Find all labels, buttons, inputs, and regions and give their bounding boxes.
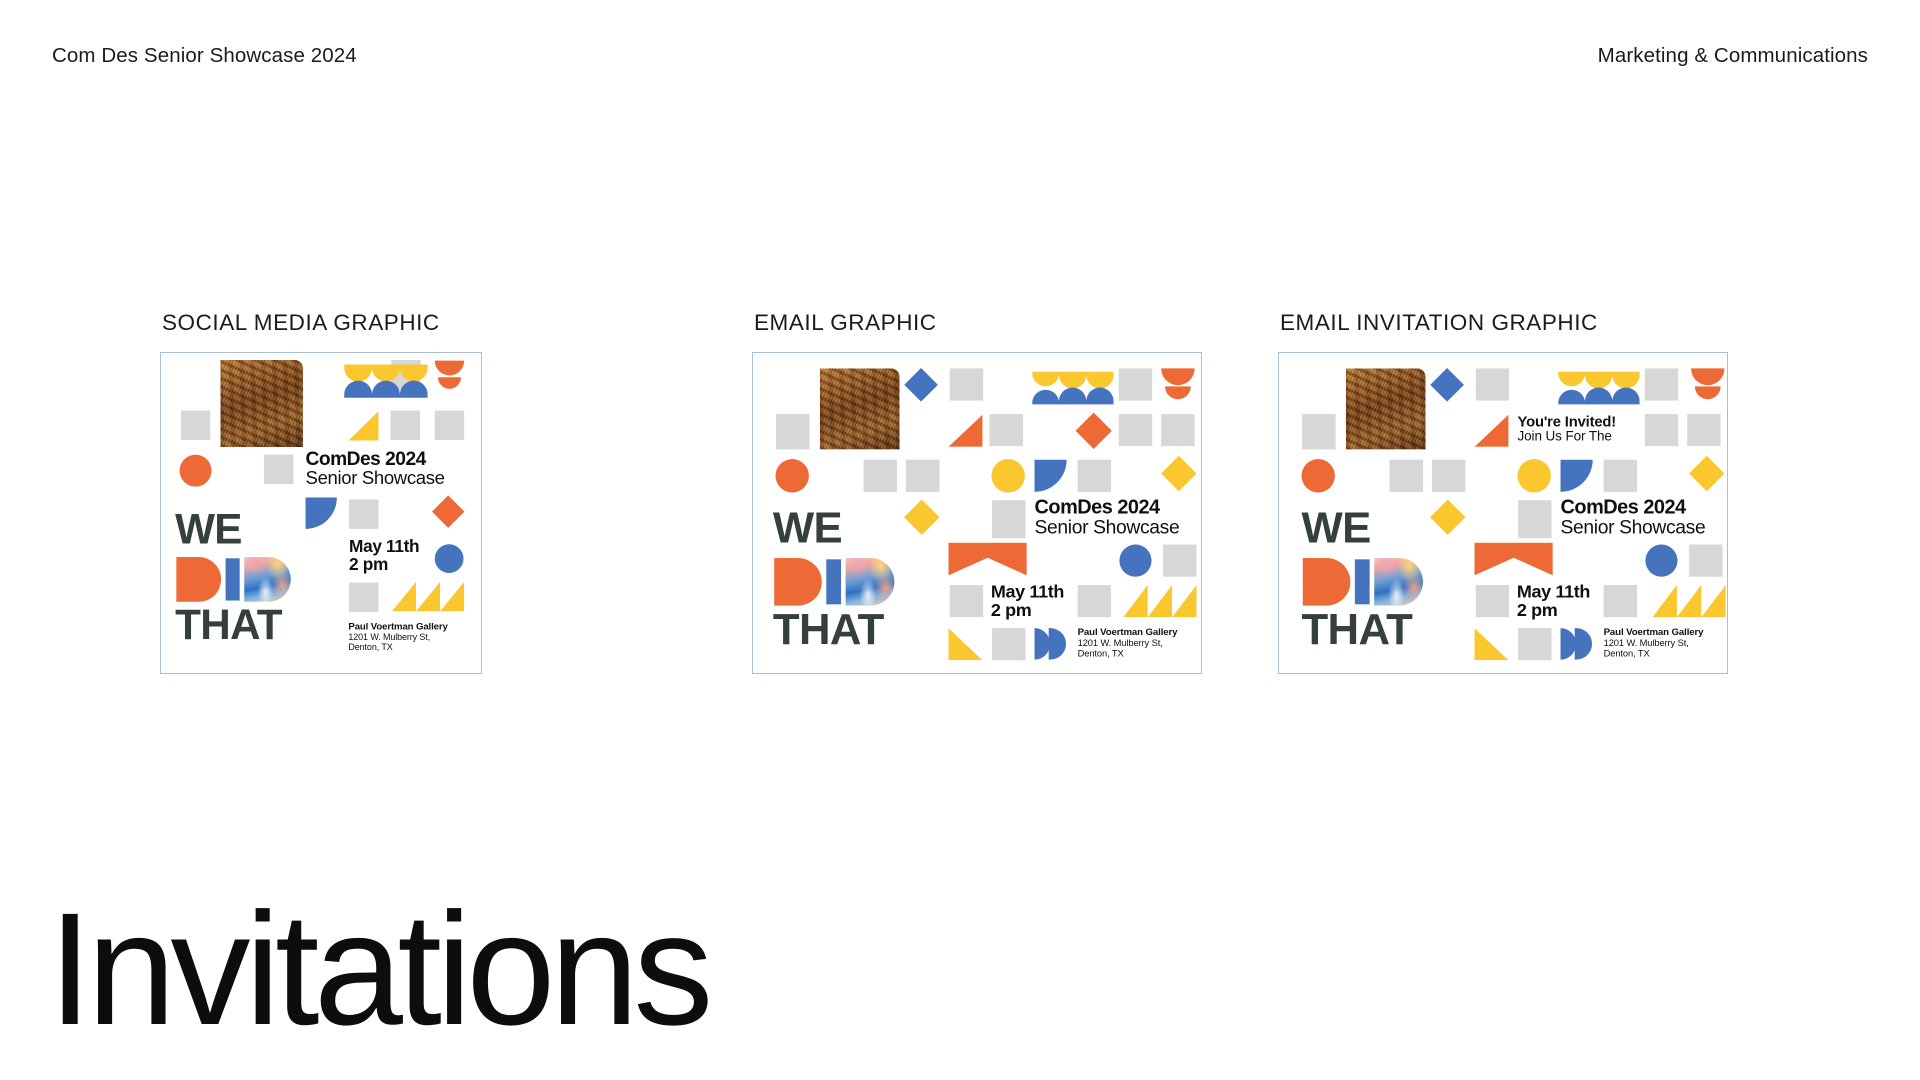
grid-square bbox=[1390, 460, 1423, 492]
event-date-line1: May 11th bbox=[349, 537, 419, 555]
blue-double-half-right bbox=[1575, 628, 1592, 659]
grid-square bbox=[864, 460, 897, 492]
letterpress-photo bbox=[820, 368, 900, 449]
page-header: Com Des Senior Showcase 2024 Marketing &… bbox=[52, 44, 1868, 68]
venue-name: Paul Voertman Gallery bbox=[348, 621, 447, 632]
title-block: ComDes 2024 Senior Showcase bbox=[1035, 497, 1180, 537]
event-title-bold: ComDes 2024 bbox=[306, 449, 445, 468]
orange-half-circle-bottom bbox=[1695, 386, 1721, 399]
grid-square bbox=[1518, 500, 1551, 538]
grid-square bbox=[349, 499, 378, 528]
card-label-email: EMAIL GRAPHIC bbox=[754, 310, 1202, 336]
orange-half-circle-top bbox=[435, 361, 464, 376]
venue-block: Paul Voertman Gallery 1201 W. Mulberry S… bbox=[348, 621, 447, 652]
grid-square bbox=[950, 585, 983, 617]
headline-d-orange bbox=[774, 558, 822, 606]
title-block: ComDes 2024 Senior Showcase bbox=[306, 449, 445, 488]
orange-diamond bbox=[432, 495, 465, 528]
headline-lockup: WE DID THAT bbox=[772, 510, 939, 661]
blue-circle bbox=[1119, 545, 1151, 577]
grid-square bbox=[264, 455, 293, 484]
event-date-line2: 2 pm bbox=[1517, 601, 1590, 620]
grid-square bbox=[1432, 460, 1465, 492]
orange-diamond bbox=[1076, 413, 1112, 449]
blue-quarter-circle bbox=[1561, 460, 1593, 492]
artwork-canvas-email: WE DID THAT ComDes 2024 Senior Showcase … bbox=[753, 353, 1202, 674]
grid-square bbox=[435, 411, 464, 440]
orange-circle bbox=[775, 459, 808, 492]
venue-city: Denton, TX bbox=[1604, 648, 1704, 659]
event-title-bold: ComDes 2024 bbox=[1035, 497, 1180, 517]
yellow-zigzag bbox=[1123, 585, 1196, 617]
date-block: May 11th 2 pm bbox=[1517, 582, 1590, 619]
yellow-circle bbox=[1517, 459, 1550, 492]
grid-square bbox=[1476, 585, 1509, 617]
event-date-line1: May 11th bbox=[1517, 582, 1590, 601]
headline-d-orange bbox=[176, 557, 221, 602]
yellow-zigzag bbox=[1652, 585, 1725, 617]
grid-square bbox=[1645, 414, 1678, 446]
grid-square bbox=[776, 414, 809, 449]
venue-block: Paul Voertman Gallery 1201 W. Mulberry S… bbox=[1604, 627, 1704, 659]
venue-name: Paul Voertman Gallery bbox=[1078, 627, 1178, 638]
venue-street: 1201 W. Mulberry St, bbox=[1604, 638, 1704, 649]
yellow-triangle-bottom bbox=[948, 628, 982, 660]
graphic-card-social-media[interactable]: WE DID THAT ComDes 2024 Senior Showcase … bbox=[160, 352, 482, 674]
grid-square bbox=[906, 460, 939, 492]
event-date-line2: 2 pm bbox=[349, 555, 419, 573]
orange-triangle bbox=[1474, 415, 1508, 447]
orange-half-circle-top bbox=[1161, 368, 1194, 385]
orange-m-shape bbox=[1474, 543, 1552, 576]
grid-square bbox=[391, 411, 420, 440]
blue-quarter-circle bbox=[1035, 460, 1067, 492]
headline-d-paint bbox=[244, 557, 291, 602]
yellow-circle bbox=[991, 459, 1024, 492]
grid-square bbox=[990, 414, 1023, 446]
venue-street: 1201 W. Mulberry St, bbox=[348, 632, 447, 642]
headline-d-orange bbox=[1303, 558, 1351, 606]
date-block: May 11th 2 pm bbox=[349, 537, 419, 573]
invite-eyebrow-block: You're Invited! Join Us For The bbox=[1517, 414, 1616, 443]
graphic-card-email[interactable]: WE DID THAT ComDes 2024 Senior Showcase … bbox=[752, 352, 1202, 674]
headline-d-paint bbox=[846, 558, 895, 606]
grid-square bbox=[349, 583, 378, 612]
yellow-triangle bbox=[348, 411, 378, 440]
artwork-canvas-social-media: WE DID THAT ComDes 2024 Senior Showcase … bbox=[161, 353, 481, 673]
orange-triangle bbox=[948, 415, 982, 447]
header-project-title: Com Des Senior Showcase 2024 bbox=[52, 44, 357, 68]
grid-square bbox=[181, 411, 210, 440]
headline-d-paint bbox=[1374, 558, 1423, 606]
yellow-triangle-bottom bbox=[1474, 628, 1508, 660]
headline-lockup: WE DID THAT bbox=[1301, 510, 1468, 661]
headline-line-we: WE bbox=[175, 512, 242, 547]
grid-square bbox=[1518, 628, 1551, 660]
grid-square bbox=[992, 628, 1025, 660]
grid-square bbox=[1163, 545, 1196, 577]
headline-line-that: THAT bbox=[773, 611, 884, 647]
card-label-email-invitation: EMAIL INVITATION GRAPHIC bbox=[1280, 310, 1728, 336]
yellow-diamond-right bbox=[1689, 456, 1724, 491]
blue-scallop-wave bbox=[1558, 386, 1640, 405]
orange-circle bbox=[1301, 459, 1334, 492]
grid-square bbox=[950, 368, 983, 400]
title-block: ComDes 2024 Senior Showcase bbox=[1561, 497, 1706, 537]
orange-half-circle-bottom bbox=[438, 377, 461, 389]
grid-square bbox=[1604, 460, 1637, 492]
grid-square bbox=[1161, 414, 1194, 446]
letterpress-photo bbox=[220, 360, 303, 447]
event-title-bold: ComDes 2024 bbox=[1561, 497, 1706, 517]
yellow-diamond-right bbox=[1161, 456, 1196, 491]
date-block: May 11th 2 pm bbox=[991, 582, 1064, 619]
blue-circle bbox=[1645, 545, 1677, 577]
graphic-card-email-invitation[interactable]: WE DID THAT You're Invited! Join Us For … bbox=[1278, 352, 1728, 674]
card-slot-email-invitation: EMAIL INVITATION GRAPHIC bbox=[1278, 310, 1728, 674]
venue-block: Paul Voertman Gallery 1201 W. Mulberry S… bbox=[1078, 627, 1178, 659]
page-title: Invitations bbox=[48, 895, 708, 1042]
card-slot-social-media: SOCIAL MEDIA GRAPHIC bbox=[160, 310, 482, 674]
venue-street: 1201 W. Mulberry St, bbox=[1078, 638, 1178, 649]
blue-scallop-wave bbox=[344, 380, 428, 399]
invite-eyebrow-light: Join Us For The bbox=[1517, 429, 1616, 443]
headline-line-we: WE bbox=[1301, 510, 1370, 546]
grid-square bbox=[1078, 460, 1111, 492]
grid-square bbox=[1604, 585, 1637, 617]
card-label-social-media: SOCIAL MEDIA GRAPHIC bbox=[162, 310, 482, 336]
event-date-line2: 2 pm bbox=[991, 601, 1064, 620]
grid-square bbox=[1687, 414, 1720, 446]
grid-square bbox=[1119, 414, 1152, 446]
orange-half-circle-top bbox=[1691, 368, 1724, 385]
artwork-canvas-email-invitation: WE DID THAT You're Invited! Join Us For … bbox=[1279, 353, 1728, 674]
event-title-light: Senior Showcase bbox=[1035, 517, 1180, 537]
grid-square bbox=[1476, 368, 1509, 400]
grid-square bbox=[1119, 368, 1152, 400]
card-slot-email: EMAIL GRAPHIC bbox=[752, 310, 1202, 674]
blue-diamond bbox=[904, 368, 938, 402]
headline-line-that: THAT bbox=[1301, 611, 1412, 647]
grid-square bbox=[1689, 545, 1722, 577]
headline-line-we: WE bbox=[773, 510, 842, 546]
invite-eyebrow-bold: You're Invited! bbox=[1517, 414, 1616, 429]
blue-circle bbox=[435, 544, 464, 573]
venue-name: Paul Voertman Gallery bbox=[1604, 627, 1704, 638]
event-title-light: Senior Showcase bbox=[1561, 517, 1706, 537]
headline-lockup: WE DID THAT bbox=[174, 512, 334, 653]
blue-double-half-left bbox=[1561, 628, 1576, 659]
blue-diamond bbox=[1430, 368, 1464, 402]
grid-square bbox=[1302, 414, 1335, 449]
venue-city: Denton, TX bbox=[348, 642, 447, 652]
event-title-light: Senior Showcase bbox=[306, 468, 445, 487]
blue-scallop-wave bbox=[1032, 386, 1114, 405]
blue-double-half-right bbox=[1049, 628, 1066, 659]
orange-m-shape bbox=[948, 543, 1026, 576]
orange-circle bbox=[180, 455, 212, 487]
grid-square bbox=[992, 500, 1025, 538]
headline-line-that: THAT bbox=[175, 608, 282, 643]
blue-double-half-left bbox=[1035, 628, 1050, 659]
headline-i-blue bbox=[826, 559, 841, 604]
yellow-zigzag bbox=[392, 582, 464, 611]
header-department: Marketing & Communications bbox=[1598, 44, 1868, 68]
event-date-line1: May 11th bbox=[991, 582, 1064, 601]
grid-square bbox=[1078, 585, 1111, 617]
venue-city: Denton, TX bbox=[1078, 648, 1178, 659]
headline-i-blue bbox=[226, 558, 240, 600]
letterpress-photo bbox=[1346, 368, 1426, 449]
headline-i-blue bbox=[1355, 559, 1370, 604]
grid-square bbox=[1645, 368, 1678, 400]
orange-half-circle-bottom bbox=[1165, 386, 1191, 399]
